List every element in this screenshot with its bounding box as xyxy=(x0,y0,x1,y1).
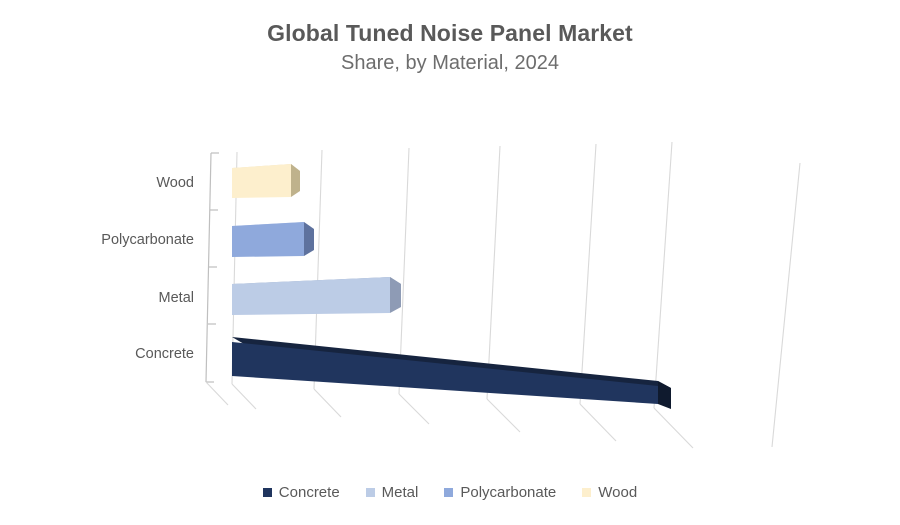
legend-label-wood: Wood xyxy=(598,484,637,501)
legend-label-concrete: Concrete xyxy=(279,484,340,501)
legend-swatch-icon-concrete xyxy=(263,488,272,497)
legend-item-wood[interactable]: Wood xyxy=(582,484,637,501)
legend-label-polycarbonate: Polycarbonate xyxy=(460,484,556,501)
chart-legend: Concrete Metal Polycarbonate Wood xyxy=(0,484,900,501)
legend-swatch-icon-polycarbonate xyxy=(444,488,453,497)
category-axis xyxy=(206,153,219,382)
category-label-wood: Wood xyxy=(156,175,194,191)
category-label-metal: Metal xyxy=(159,290,194,306)
bar-concrete xyxy=(232,337,671,409)
category-label-concrete: Concrete xyxy=(135,346,194,362)
legend-swatch-icon-wood xyxy=(582,488,591,497)
legend-item-concrete[interactable]: Concrete xyxy=(263,484,340,501)
category-label-polycarbonate: Polycarbonate xyxy=(101,232,194,248)
outer-wall-edge xyxy=(772,163,800,447)
bar-polycarbonate xyxy=(232,222,314,257)
bar-wood xyxy=(232,164,300,198)
legend-label-metal: Metal xyxy=(382,484,419,501)
legend-item-polycarbonate[interactable]: Polycarbonate xyxy=(444,484,556,501)
bar-metal xyxy=(232,277,401,315)
chart-container: Global Tuned Noise Panel Market Share, b… xyxy=(0,0,900,525)
plot-area xyxy=(0,0,900,525)
legend-swatch-icon-metal xyxy=(366,488,375,497)
legend-item-metal[interactable]: Metal xyxy=(366,484,419,501)
